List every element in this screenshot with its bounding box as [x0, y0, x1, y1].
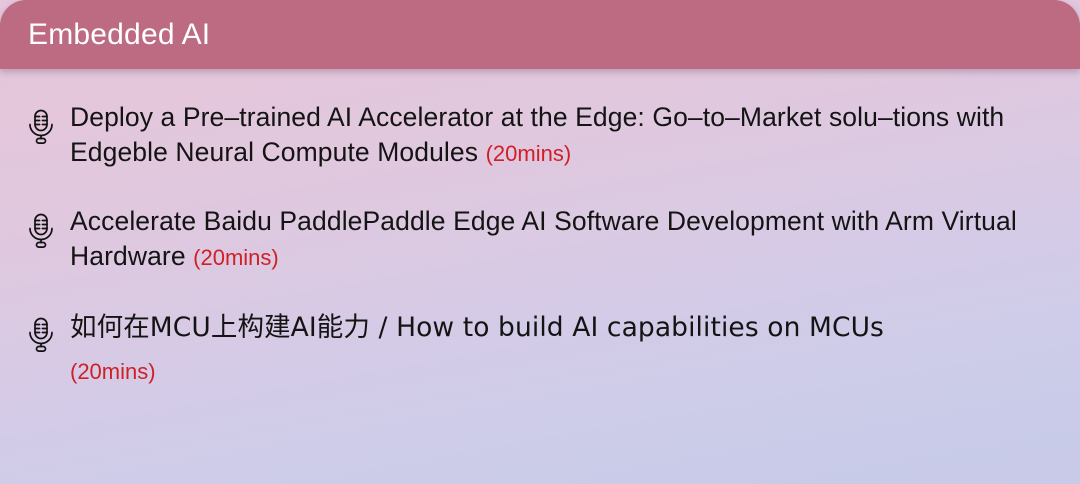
agenda-item-duration: (20mins): [486, 141, 572, 166]
agenda-item-text: 如何在MCU上构建AI能力 / How to build AI capabili…: [70, 308, 1056, 391]
agenda-item-duration: (20mins): [193, 245, 279, 270]
header-bar: Embedded AI: [0, 0, 1080, 69]
microphone-icon: [22, 107, 60, 147]
microphone-icon: [22, 315, 60, 355]
agenda-item[interactable]: 如何在MCU上构建AI能力 / How to build AI capabili…: [0, 308, 1080, 391]
agenda-list: Deploy a Pre–trained AI Accelerator at t…: [0, 69, 1080, 391]
agenda-item-title: 如何在MCU上构建AI能力 / How to build AI capabili…: [70, 312, 884, 343]
agenda-item-text: Accelerate Baidu PaddlePaddle Edge AI So…: [70, 204, 1056, 275]
slide-canvas: Embedded AI Deploy a Pre–: [0, 0, 1080, 484]
agenda-item[interactable]: Deploy a Pre–trained AI Accelerator at t…: [0, 100, 1080, 171]
page-title: Embedded AI: [28, 17, 210, 53]
agenda-item[interactable]: Accelerate Baidu PaddlePaddle Edge AI So…: [0, 204, 1080, 275]
agenda-item-duration: (20mins): [70, 353, 1056, 391]
microphone-icon: [22, 211, 60, 251]
agenda-item-text: Deploy a Pre–trained AI Accelerator at t…: [70, 100, 1056, 171]
